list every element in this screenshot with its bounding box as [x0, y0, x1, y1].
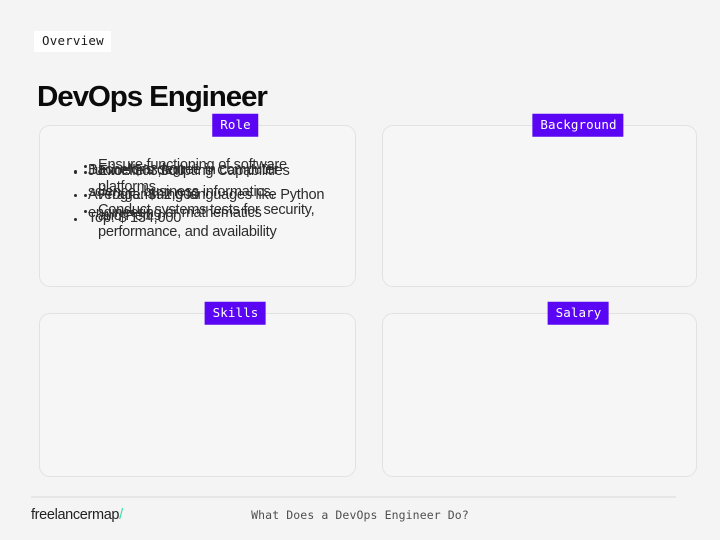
footer-divider	[31, 496, 676, 498]
list-item: Average: $92,000	[71, 185, 321, 207]
eyebrow-badge: Overview	[34, 31, 111, 52]
footer-caption: What Does a DevOps Engineer Do?	[0, 510, 720, 522]
card-badge-skills: Skills	[205, 302, 266, 325]
list-item: Junior: $63,000	[71, 161, 321, 183]
card-grid: Role Ensure functioning of software plat…	[39, 125, 697, 477]
list-item: Top: $ 134,000	[71, 208, 321, 230]
card-badge-background: Background	[532, 114, 623, 137]
card-background	[382, 125, 697, 287]
page-title: DevOps Engineer	[37, 81, 267, 113]
card-salary	[382, 313, 697, 477]
card-skills	[39, 313, 356, 477]
card-badge-salary: Salary	[548, 302, 609, 325]
bullet-list-salary: Junior: $63,000 Average: $92,000 Top: $ …	[71, 161, 321, 230]
card-body-salary: Junior: $63,000 Average: $92,000 Top: $ …	[71, 161, 321, 230]
card-badge-role: Role	[212, 114, 258, 137]
slide: Overview DevOps Engineer Role Ensure fun…	[0, 0, 720, 540]
